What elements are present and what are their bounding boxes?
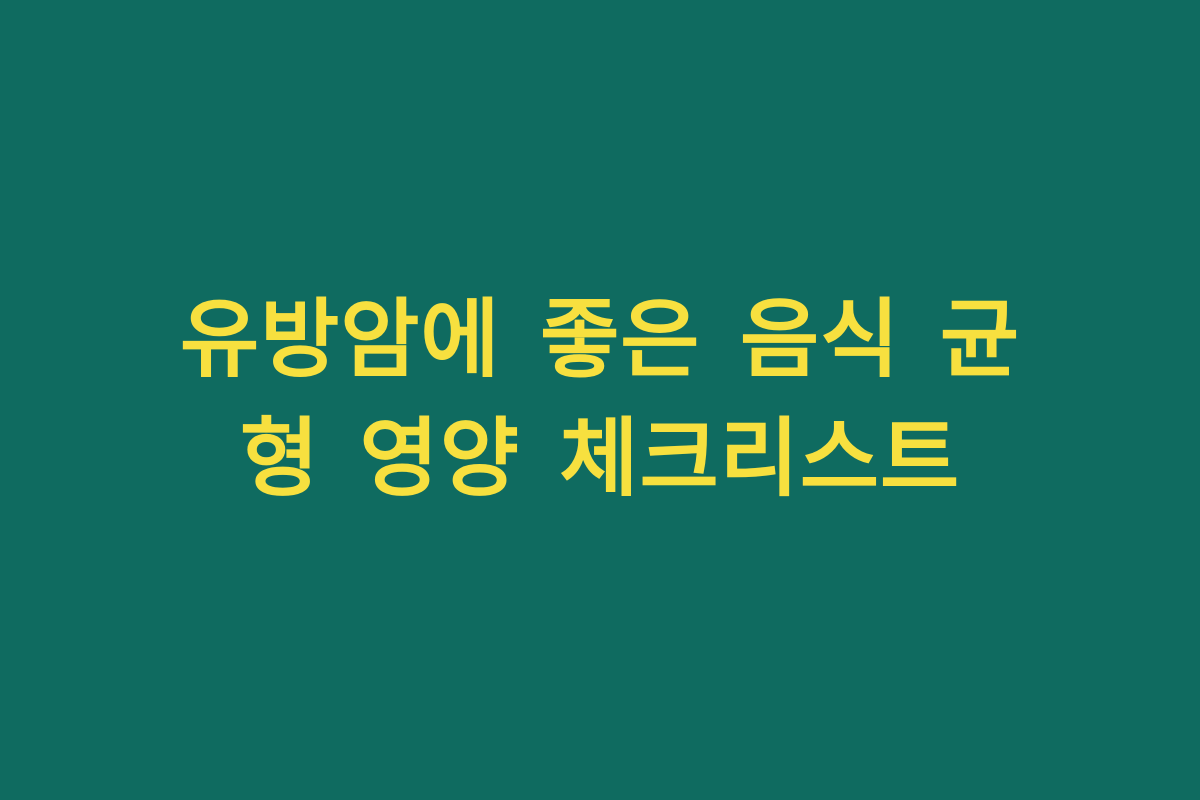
page-title-line-1: 유방암에 좋은 음식 균 bbox=[100, 281, 1100, 400]
banner-canvas: 유방암에 좋은 음식 균 형 영양 체크리스트 bbox=[0, 0, 1200, 800]
page-title: 유방암에 좋은 음식 균 형 영양 체크리스트 bbox=[100, 281, 1100, 518]
page-title-line-2: 형 영양 체크리스트 bbox=[100, 400, 1100, 519]
